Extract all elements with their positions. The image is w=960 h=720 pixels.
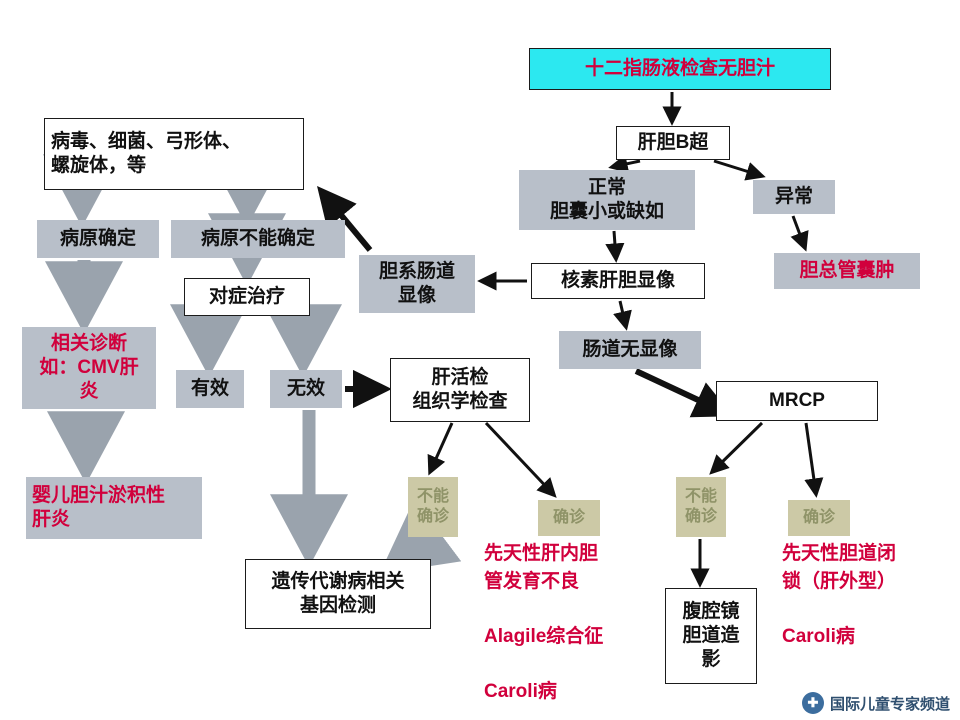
node-symptomatic-treatment[interactable]: 对症治疗 [184,278,310,316]
node-undetermined-right[interactable]: 不能 确诊 [676,477,726,537]
node-laparoscopic-cholangiography[interactable]: 腹腔镜 胆道造 影 [665,588,757,684]
node-related-diagnosis-cmv[interactable]: 相关诊断 如：CMV肝 炎 [22,327,156,409]
node-diagnosis-right-list: 先天性胆道闭 锁（肝外型） Caroli病 [782,540,952,650]
node-genetic-testing[interactable]: 遗传代谢病相关 基因检测 [245,559,431,629]
node-diagnosis-left-list: 先天性肝内胆 管发育不良 Alagile综合征 Caroli病 [484,540,654,690]
node-root[interactable]: 十二指肠液检查无胆汁 [529,48,831,90]
watermark: ✚ 国际儿童专家频道 [802,692,950,714]
node-mrcp[interactable]: MRCP [716,381,878,421]
node-liver-biopsy[interactable]: 肝活检 组织学检查 [390,358,530,422]
node-pathogen-identified[interactable]: 病原确定 [37,220,159,258]
node-nuclide-imaging[interactable]: 核素肝胆显像 [531,263,705,299]
node-abnormal[interactable]: 异常 [753,180,835,214]
node-ineffective[interactable]: 无效 [270,370,342,408]
node-confirmed-left[interactable]: 确诊 [538,500,600,536]
watermark-logo-icon: ✚ [802,692,824,714]
node-effective[interactable]: 有效 [176,370,244,408]
node-liver-ultrasound[interactable]: 肝胆B超 [616,126,730,160]
node-confirmed-right[interactable]: 确诊 [788,500,850,536]
node-infant-cholestatic-hepatitis[interactable]: 婴儿胆汁淤积性 肝炎 [26,477,202,539]
node-pathogens[interactable]: 病毒、细菌、弓形体、 螺旋体，等 [44,118,304,190]
node-undetermined-left[interactable]: 不能 确诊 [408,477,458,537]
node-no-intestinal-imaging[interactable]: 肠道无显像 [559,331,701,369]
watermark-text: 国际儿童专家频道 [830,693,950,714]
flowchart-canvas: 十二指肠液检查无胆汁 肝胆B超 正常 胆囊小或缺如 异常 胆总管囊肿 核素肝胆显… [0,0,960,720]
node-biliary-intestinal-imaging[interactable]: 胆系肠道 显像 [359,255,475,313]
node-normal[interactable]: 正常 胆囊小或缺如 [519,170,695,230]
node-pathogen-unidentified[interactable]: 病原不能确定 [171,220,345,258]
node-choledochal-cyst[interactable]: 胆总管囊肿 [774,253,920,289]
